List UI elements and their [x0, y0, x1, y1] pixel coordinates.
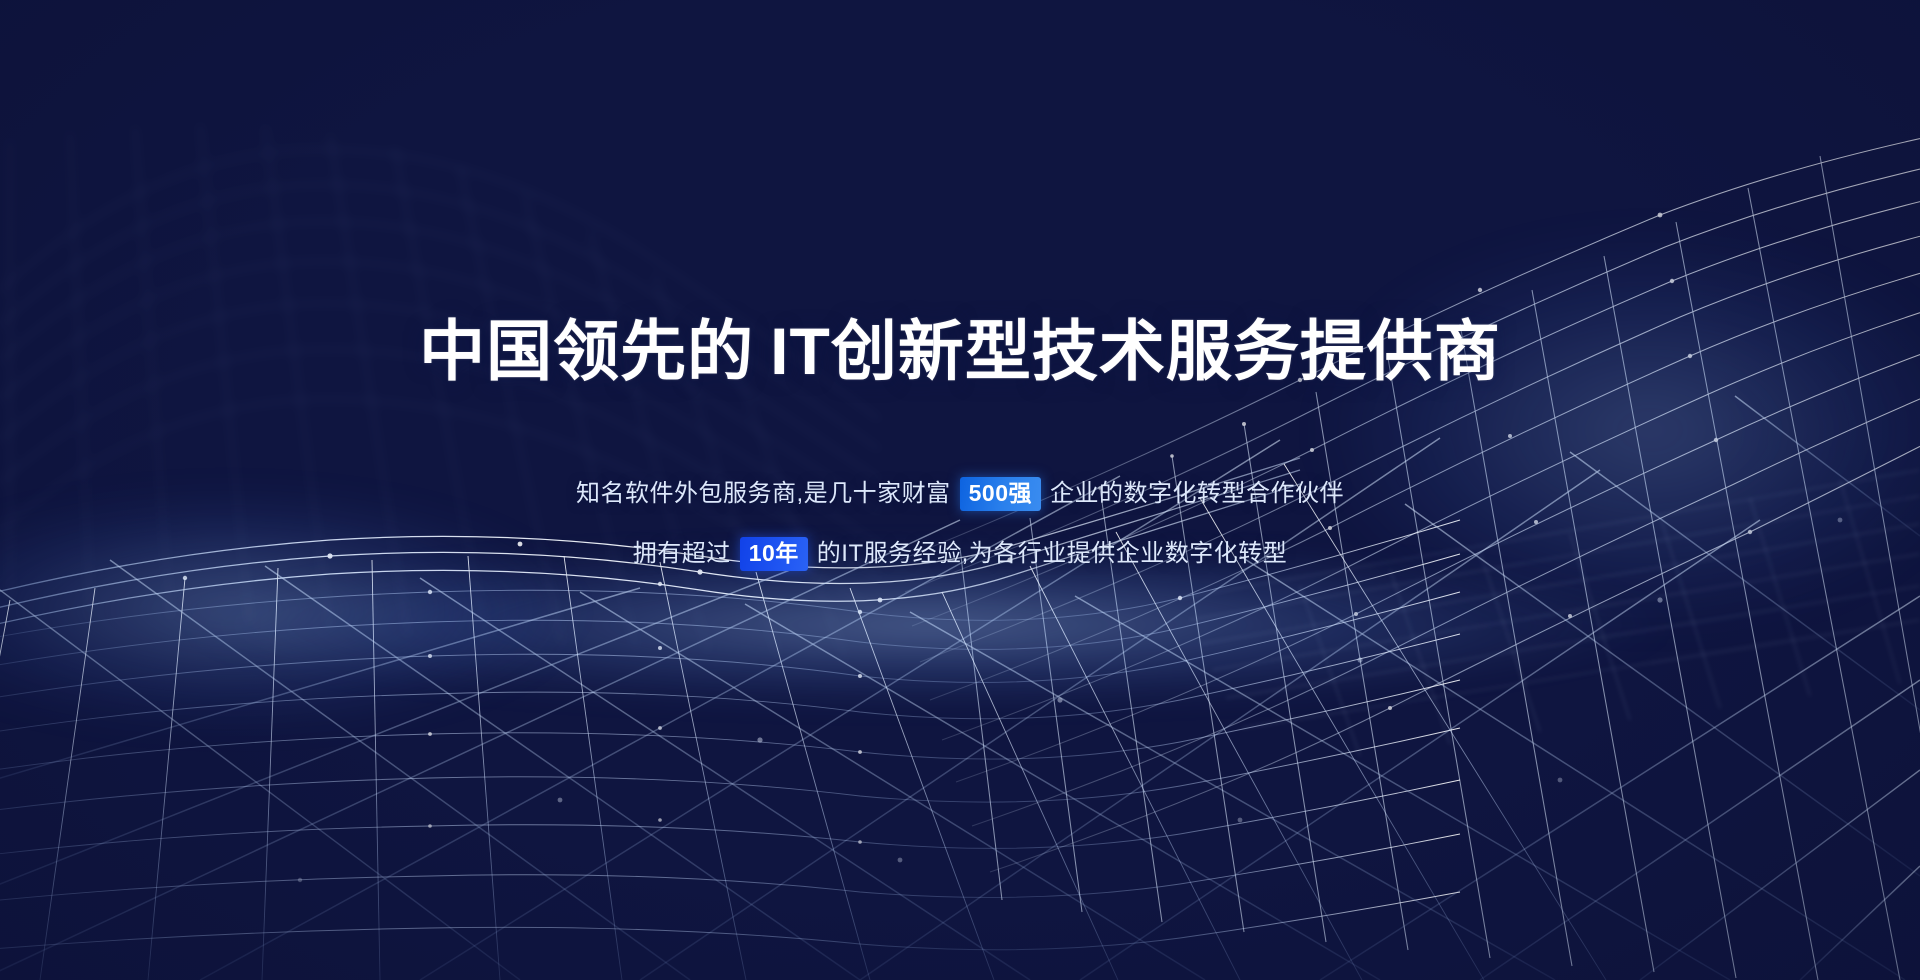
right-light-glow	[1200, 170, 1920, 690]
subtitle-1-before: 知名软件外包服务商,是几十家财富	[576, 482, 951, 506]
banner-content: 中国领先的IT创新型技术服务提供商 知名软件外包服务商,是几十家财富500强企业…	[0, 0, 1920, 980]
subtitle-line-1: 知名软件外包服务商,是几十家财富500强企业的数字化转型合作伙伴	[576, 477, 1344, 511]
subtitle-line-2: 拥有超过10年的IT服务经验,为各行业提供企业数字化转型	[633, 537, 1288, 571]
subtitle-2-before: 拥有超过	[633, 542, 731, 566]
page-title: 中国领先的IT创新型技术服务提供商	[419, 318, 1501, 384]
headline-part-1: 中国领先的	[419, 314, 754, 388]
subtitle-2-after: 的IT服务经验,为各行业提供企业数字化转型	[817, 542, 1288, 566]
subtitle-1-after: 企业的数字化转型合作伙伴	[1050, 482, 1344, 506]
badge-ten-years: 10年	[740, 537, 808, 571]
hero-banner: 中国领先的IT创新型技术服务提供商 知名软件外包服务商,是几十家财富500强企业…	[0, 0, 1920, 980]
badge-fortune-500: 500强	[960, 477, 1041, 511]
headline-part-2: IT创新型技术服务提供商	[770, 314, 1501, 388]
